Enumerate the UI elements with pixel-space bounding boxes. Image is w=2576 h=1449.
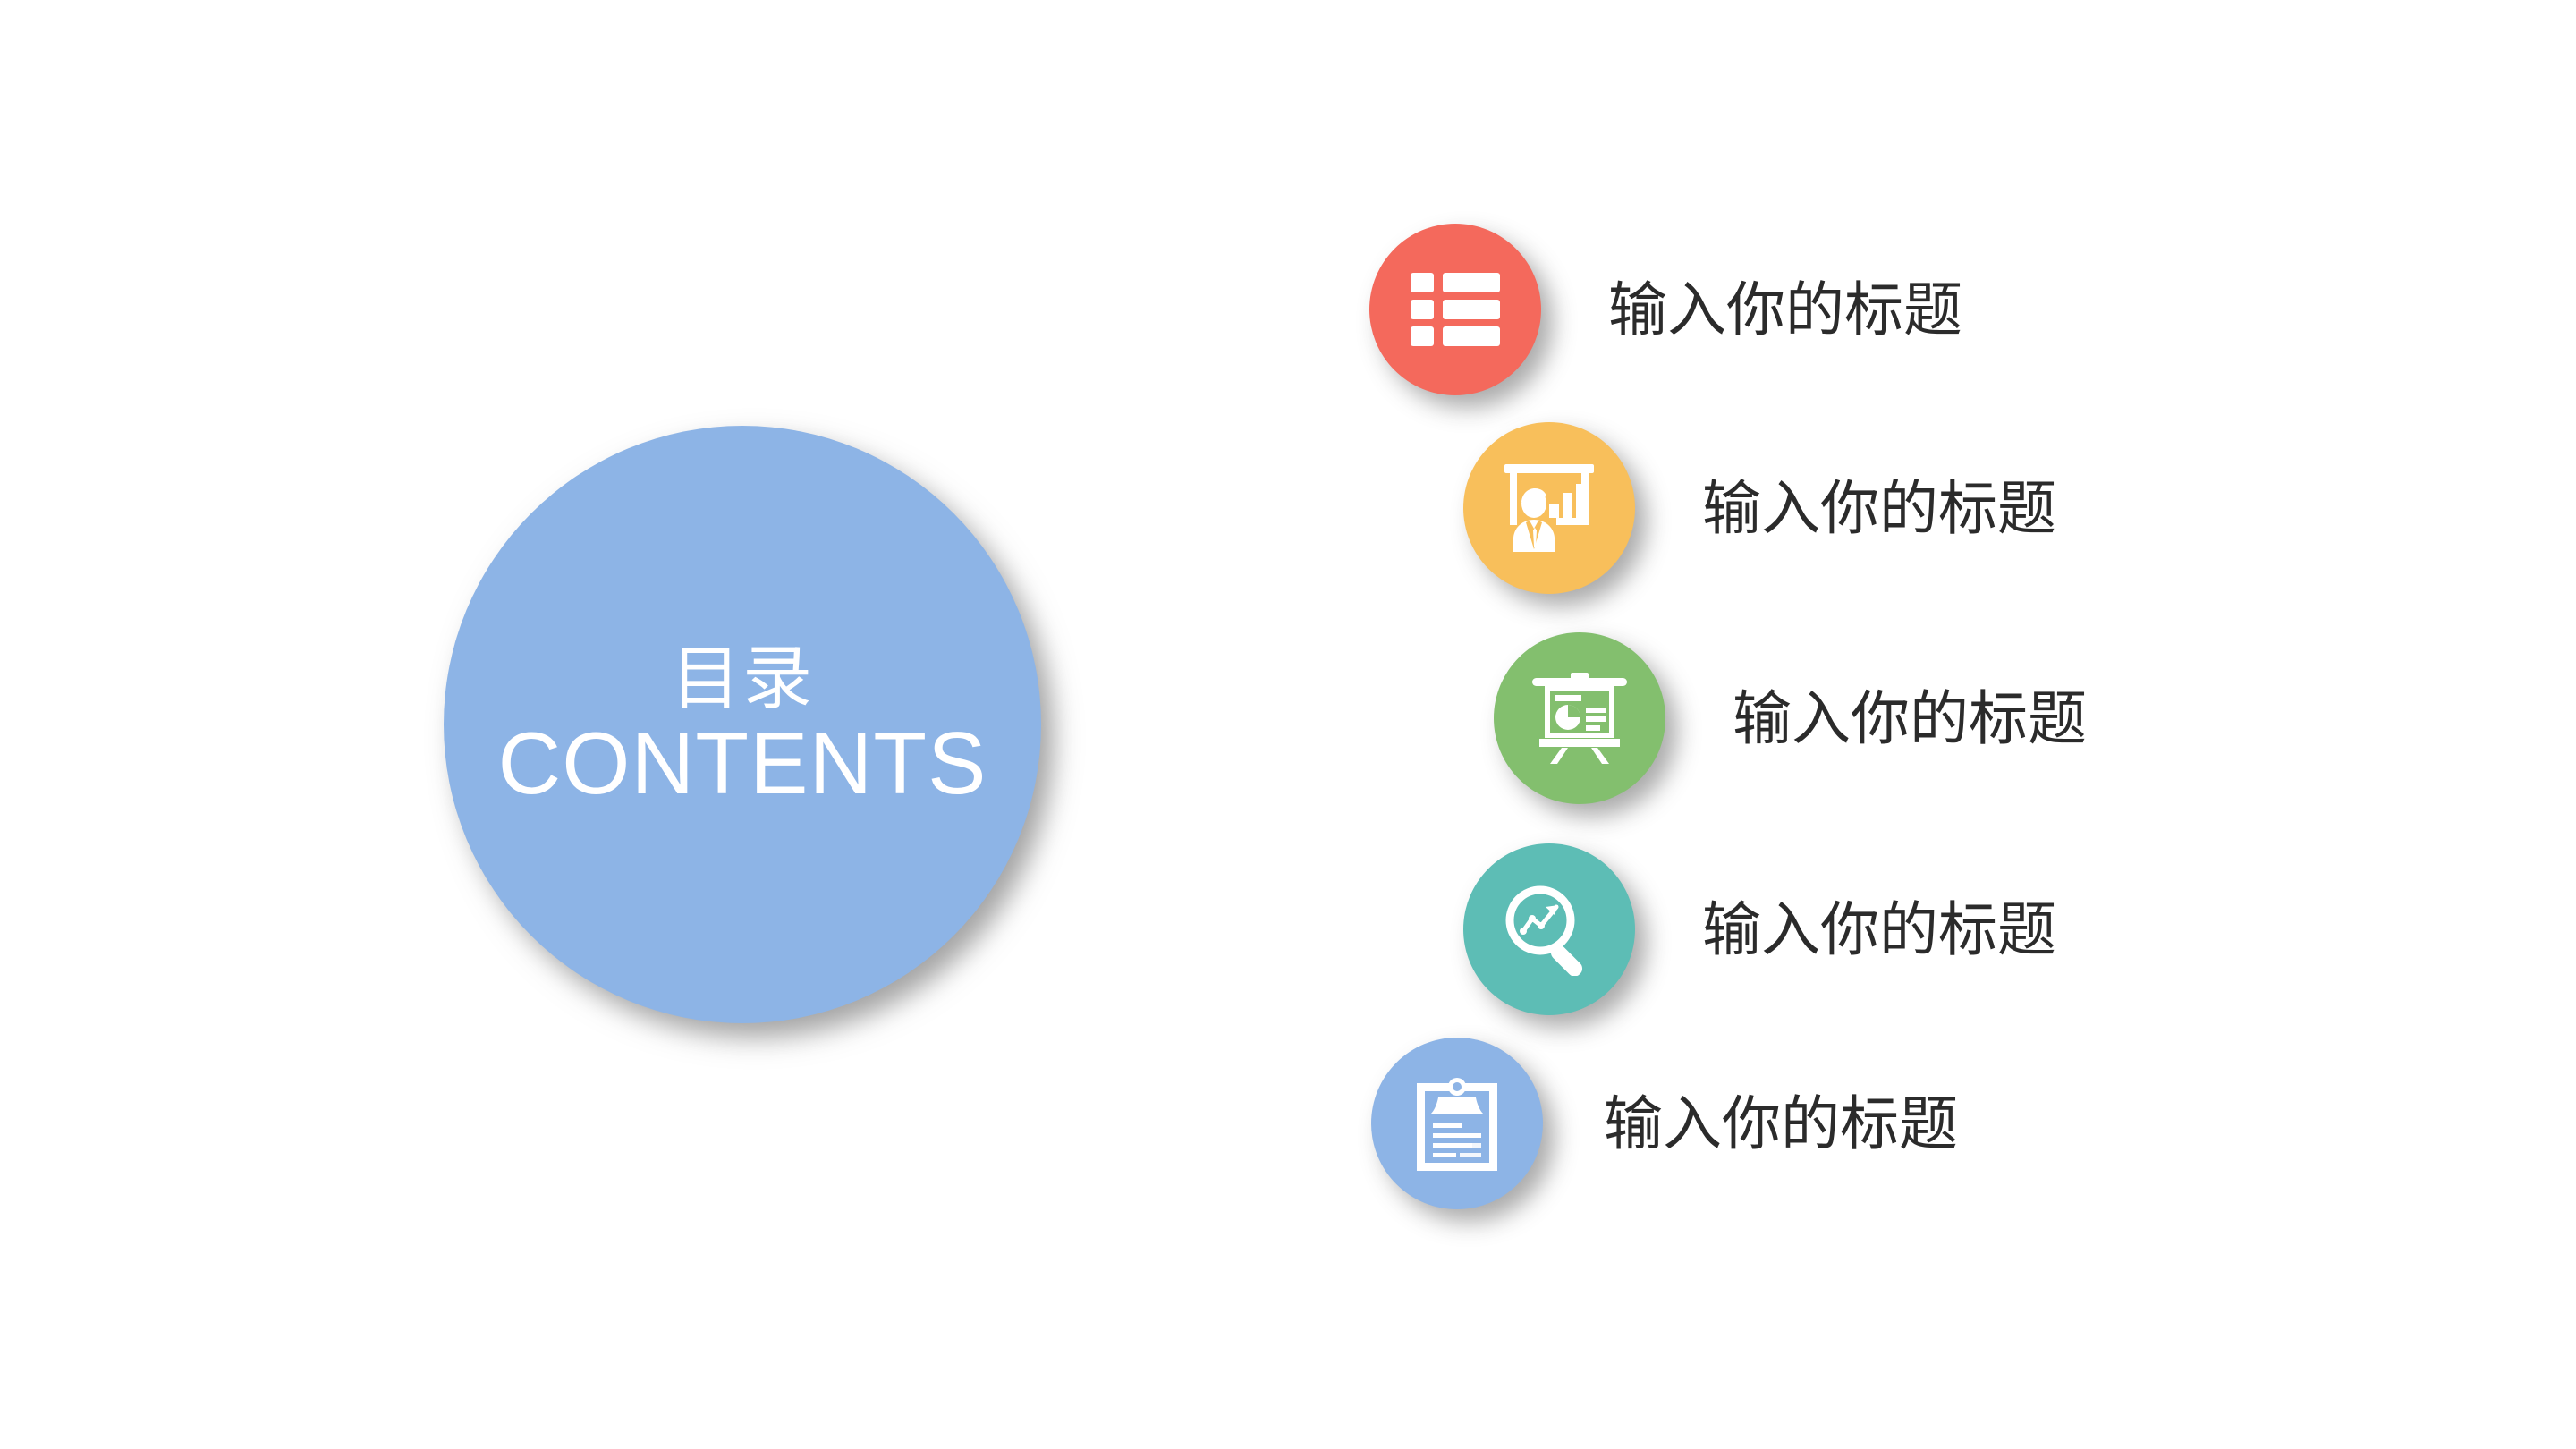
presentation-person-chart-icon [1503,464,1596,552]
contents-item-2-bubble[interactable] [1463,422,1635,594]
clipboard-document-icon [1415,1074,1499,1173]
hero-title-cn: 目录 [671,642,814,716]
contents-item-1-label: 输入你的标题 [1608,280,1962,339]
contents-item-2-label: 输入你的标题 [1702,479,2056,538]
contents-item-5-label: 输入你的标题 [1604,1094,1958,1153]
easel-pie-chart-icon [1532,671,1627,766]
contents-item-4[interactable]: 输入你的标题 [1463,843,2056,1015]
list-table-icon [1411,273,1500,346]
contents-item-5[interactable]: 输入你的标题 [1371,1038,1958,1209]
contents-item-3-label: 输入你的标题 [1733,689,2087,748]
slide-canvas: 目录 CONTENTS 输入你的标题 [0,0,2576,1449]
contents-hero-circle[interactable]: 目录 CONTENTS [444,426,1041,1023]
contents-item-2[interactable]: 输入你的标题 [1463,422,2056,594]
magnifier-trend-icon [1503,883,1596,976]
contents-item-1-bubble[interactable] [1369,224,1541,395]
contents-item-4-bubble[interactable] [1463,843,1635,1015]
contents-item-5-bubble[interactable] [1371,1038,1543,1209]
contents-item-3-bubble[interactable] [1494,632,1665,804]
contents-item-4-label: 输入你的标题 [1702,900,2056,959]
contents-item-1[interactable]: 输入你的标题 [1369,224,1962,395]
contents-item-3[interactable]: 输入你的标题 [1494,632,2087,804]
hero-title-en: CONTENTS [498,719,987,807]
